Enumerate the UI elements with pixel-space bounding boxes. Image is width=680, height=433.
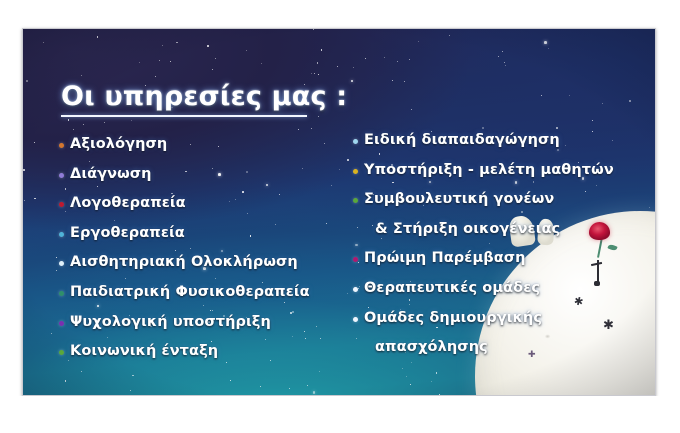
- service-item-label: Ειδική διαπαιδαγώγηση: [364, 130, 560, 148]
- bullet-icon: [59, 143, 64, 148]
- service-item[interactable]: Συμβουλευτική γονέων: [353, 189, 653, 219]
- bullet-icon: [59, 173, 64, 178]
- service-item[interactable]: Υποστήριξη - μελέτη μαθητών: [353, 160, 653, 190]
- service-item-label: Λογοθεραπεία: [70, 193, 186, 211]
- services-poster: ✱ ✱ ✚ Οι υπηρεσίες μας : ΑξιολόγησηΔιάγν…: [22, 28, 656, 396]
- service-item-label: Υποστήριξη - μελέτη μαθητών: [364, 160, 614, 178]
- service-item-label: Αξιολόγηση: [70, 134, 167, 152]
- bullet-icon: [59, 350, 64, 355]
- service-item-label: Ψυχολογική υποστήριξη: [70, 312, 271, 330]
- bullet-icon: [59, 321, 64, 326]
- service-item-label: Διάγνωση: [70, 164, 152, 182]
- bullet-icon: [59, 202, 64, 207]
- service-item[interactable]: Κοινωνική ένταξη: [59, 341, 359, 371]
- service-item-label: Θεραπευτικές ομάδες: [364, 278, 540, 296]
- service-item[interactable]: Παιδιατρική Φυσικοθεραπεία: [59, 282, 359, 312]
- service-item[interactable]: Λογοθεραπεία: [59, 193, 359, 223]
- bullet-icon: [353, 317, 358, 322]
- service-item[interactable]: Πρώιμη Παρέμβαση: [353, 248, 653, 278]
- service-item[interactable]: Αισθητηριακή Ολοκλήρωση: [59, 252, 359, 282]
- service-item-label: & Στήριξη οικογένειας: [364, 219, 560, 237]
- service-item[interactable]: Αξιολόγηση: [59, 134, 359, 164]
- bullet-icon: [353, 198, 358, 203]
- service-item-label: Κοινωνική ένταξη: [70, 341, 218, 359]
- bullet-icon: [353, 139, 358, 144]
- bullet-icon: [353, 257, 358, 262]
- service-item[interactable]: απασχόλησης: [353, 337, 653, 367]
- service-item[interactable]: Διάγνωση: [59, 164, 359, 194]
- service-item[interactable]: Θεραπευτικές ομάδες: [353, 278, 653, 308]
- page-title: Οι υπηρεσίες μας :: [61, 81, 347, 112]
- title-underline: [61, 115, 307, 117]
- service-item[interactable]: & Στήριξη οικογένειας: [353, 219, 653, 249]
- service-item-label: απασχόλησης: [364, 337, 488, 355]
- service-item-label: Πρώιμη Παρέμβαση: [364, 248, 526, 266]
- poster-content: Οι υπηρεσίες μας : ΑξιολόγησηΔιάγνωσηΛογ…: [23, 29, 655, 395]
- bullet-icon: [59, 291, 64, 296]
- bullet-icon: [353, 228, 358, 233]
- service-item-label: Εργοθεραπεία: [70, 223, 185, 241]
- bullet-icon: [353, 346, 358, 351]
- services-list-left: ΑξιολόγησηΔιάγνωσηΛογοθεραπείαΕργοθεραπε…: [59, 134, 359, 371]
- bullet-icon: [59, 232, 64, 237]
- service-item[interactable]: Εργοθεραπεία: [59, 223, 359, 253]
- service-item[interactable]: Ειδική διαπαιδαγώγηση: [353, 130, 653, 160]
- service-item[interactable]: Ομάδες δημιουργικής: [353, 308, 653, 338]
- service-item-label: Ομάδες δημιουργικής: [364, 308, 542, 326]
- service-item[interactable]: Ψυχολογική υποστήριξη: [59, 312, 359, 342]
- bullet-icon: [353, 287, 358, 292]
- service-item-label: Αισθητηριακή Ολοκλήρωση: [70, 252, 298, 270]
- bullet-icon: [353, 169, 358, 174]
- services-list-right: Ειδική διαπαιδαγώγησηΥποστήριξη - μελέτη…: [353, 130, 653, 367]
- service-item-label: Παιδιατρική Φυσικοθεραπεία: [70, 282, 310, 300]
- service-item-label: Συμβουλευτική γονέων: [364, 189, 554, 207]
- page-margin: [0, 396, 680, 433]
- bullet-icon: [59, 261, 64, 266]
